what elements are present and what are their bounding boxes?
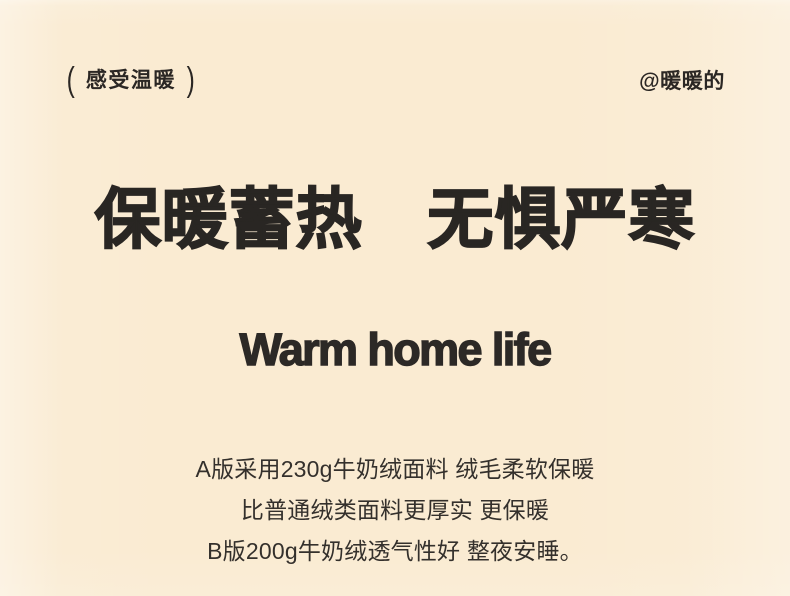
tagline-badge: ( 感受温暖 ): [65, 65, 197, 96]
body-line: 比普通绒类面料更厚实 更保暖: [0, 490, 790, 531]
tagline-text: 感受温暖: [86, 70, 176, 91]
poster-canvas: ( 感受温暖 ) @暖暖的 保暖蓄热 无惧严寒 Warm home life A…: [0, 0, 790, 596]
poster-header: ( 感受温暖 ) @暖暖的: [0, 60, 790, 102]
subtitle: Warm home life: [0, 325, 790, 375]
body-copy: A版采用230g牛奶绒面料 绒毛柔软保暖 比普通绒类面料更厚实 更保暖 B版20…: [0, 449, 790, 572]
account-handle: @暖暖的: [639, 71, 725, 92]
headline-part-2: 无惧严寒: [427, 182, 695, 256]
headline-part-1: 保暖蓄热: [95, 182, 363, 256]
paren-open-icon: (: [67, 65, 76, 96]
body-line: A版采用230g牛奶绒面料 绒毛柔软保暖: [0, 449, 790, 490]
paren-close-icon: ): [186, 65, 195, 96]
headline: 保暖蓄热 无惧严寒: [0, 183, 790, 256]
body-line: B版200g牛奶绒透气性好 整夜安睡。: [0, 531, 790, 572]
